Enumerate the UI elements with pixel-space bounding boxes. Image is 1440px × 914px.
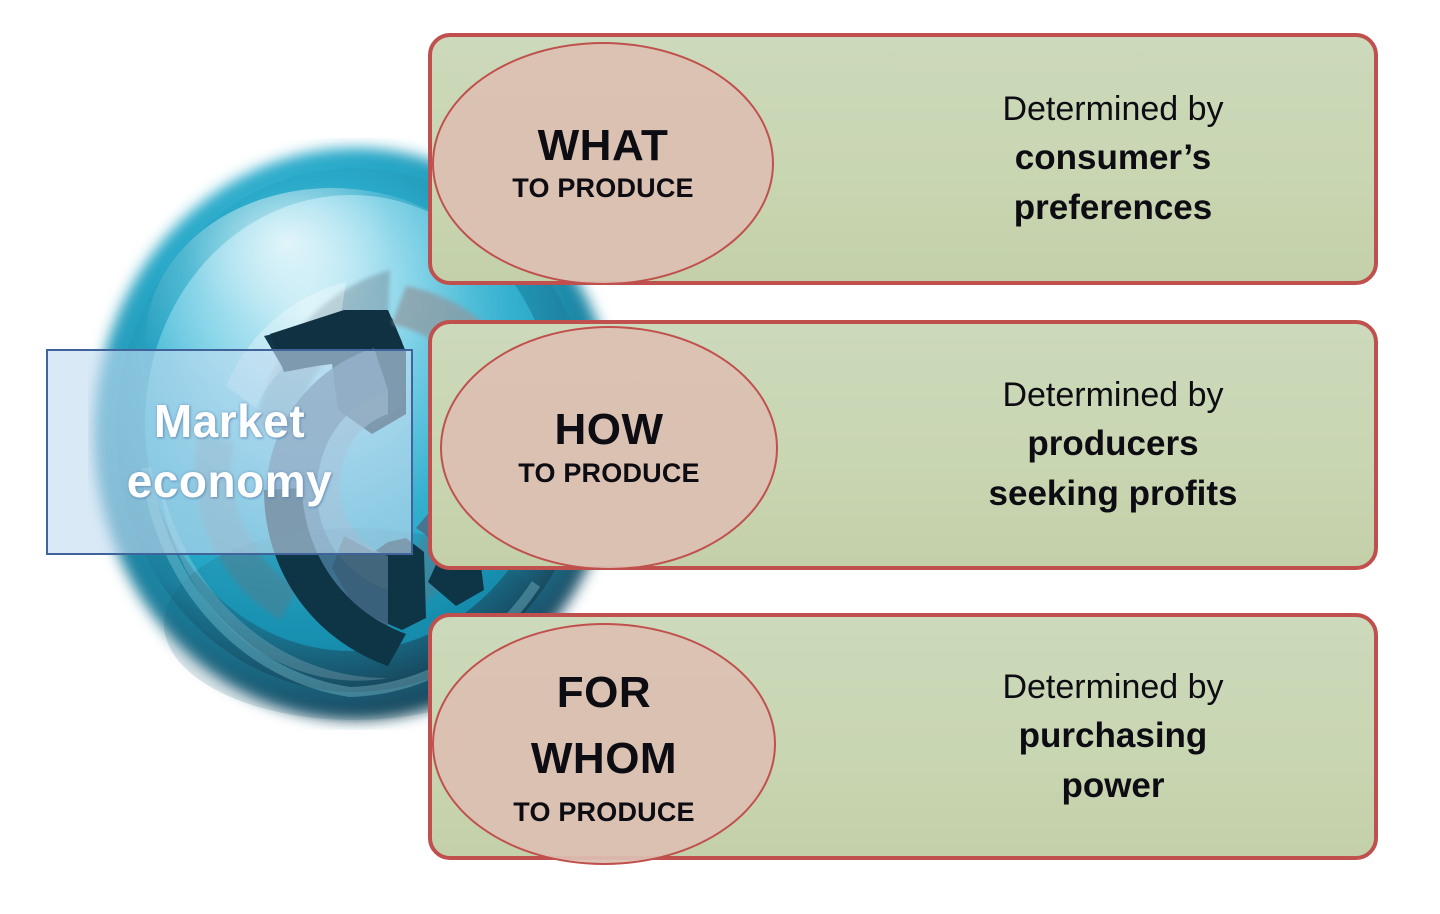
question-oval-what: WHAT TO PRODUCE [432,42,774,285]
answer-text-for-whom: Determined by purchasing power [878,617,1348,856]
question-card-for-whom[interactable]: FOR WHOM TO PRODUCE Determined by purcha… [428,613,1378,860]
question-oval-how: HOW TO PRODUCE [440,326,778,570]
diagram-canvas: Market economy WHAT TO PRODUCE Determine… [0,0,1440,914]
oval-sub-label: TO PRODUCE [518,458,700,489]
market-economy-label-text: Market economy [127,392,332,512]
market-economy-line2: economy [127,455,332,507]
answer-lead: Determined by [1002,85,1223,133]
oval-main-line1: FOR [557,668,651,717]
answer-strong-line2: power [1061,761,1164,811]
oval-sub-label: TO PRODUCE [513,797,695,828]
answer-text-what: Determined by consumer’s preferences [878,37,1348,281]
answer-strong-line1: producers [1027,419,1198,469]
oval-sub-label: TO PRODUCE [512,173,694,204]
question-card-how[interactable]: HOW TO PRODUCE Determined by producers s… [428,320,1378,570]
answer-strong-line1: consumer’s [1015,133,1211,183]
market-economy-line1: Market [154,395,305,447]
answer-strong-line2: seeking profits [989,469,1238,519]
oval-main-label: WHAT [538,123,669,170]
question-card-what[interactable]: WHAT TO PRODUCE Determined by consumer’s… [428,33,1378,285]
answer-text-how: Determined by producers seeking profits [878,324,1348,566]
oval-main-label: FOR WHOM [531,660,677,790]
answer-lead: Determined by [1002,371,1223,419]
oval-main-label: HOW [554,407,663,454]
market-economy-label: Market economy [46,349,413,555]
answer-lead: Determined by [1002,663,1223,711]
answer-strong-line1: purchasing [1019,711,1208,761]
question-oval-for-whom: FOR WHOM TO PRODUCE [432,623,776,865]
oval-main-line2: WHOM [531,734,677,783]
answer-strong-line2: preferences [1014,183,1212,233]
